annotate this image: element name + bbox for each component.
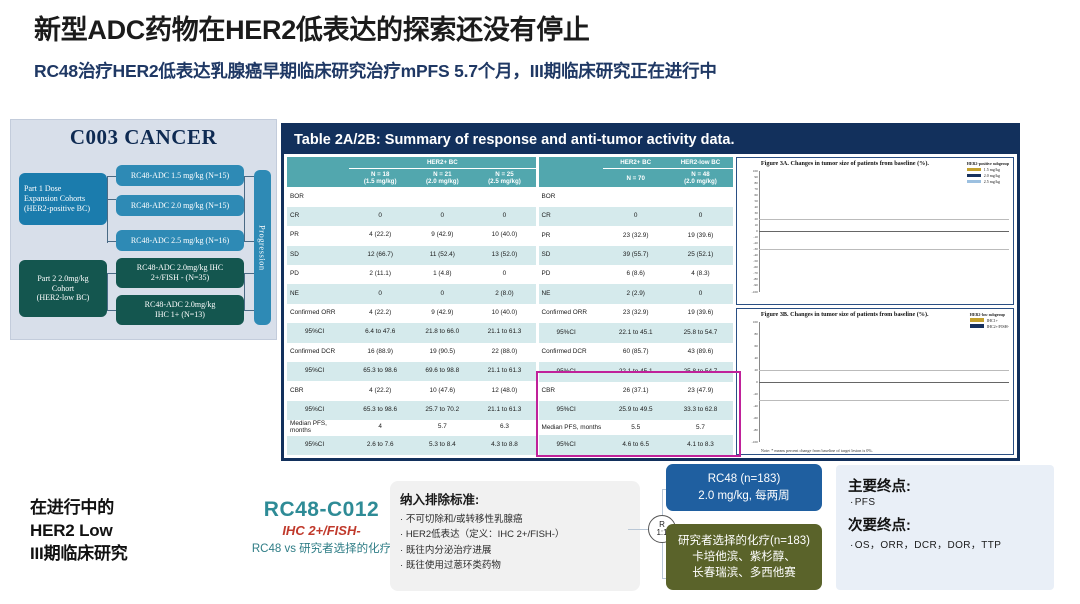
table-card-header: Table 2A/2B: Summary of response and ant… (284, 126, 1017, 154)
part1-line1: Part 1 Dose (24, 184, 61, 193)
table-2a-cell (473, 187, 535, 206)
table-2a-cell: 4.3 to 8.8 (473, 436, 535, 456)
table-2b-row-label: 95%CI (539, 323, 604, 342)
table-2a-cell: 2.6 to 7.6 (349, 436, 411, 456)
table-2a-cell: 0 (473, 207, 535, 226)
table-2b-row-label: CR (539, 207, 604, 226)
study-identifier: RC48-C012 IHC 2+/FISH- RC48 vs 研究者选择的化疗 (239, 498, 404, 556)
table-2b-cell (668, 187, 733, 206)
results-table-card: Table 2A/2B: Summary of response and ant… (281, 123, 1020, 461)
table-2b-row-label: 95%CI (539, 435, 604, 455)
table-row: 95%CI25.9 to 49.533.3 to 62.8 (539, 401, 733, 420)
table-2b-cell: 23 (47.9) (668, 382, 733, 401)
table-row: 95%CI2.6 to 7.65.3 to 8.44.3 to 8.8 (287, 436, 536, 456)
flow-box-part2: Part 2 2.0mg/kg Cohort (HER2-low BC) (19, 260, 107, 317)
table-2a-cell: 11 (52.4) (411, 246, 473, 265)
table-2b-cell (603, 187, 668, 206)
table-2b-cell: 25 (52.1) (668, 246, 733, 265)
table-row: Confirmed DCR60 (85.7)43 (89.6) (539, 343, 733, 362)
table-row: PD6 (8.6)4 (8.3) (539, 265, 733, 284)
table-row: Median PFS, months5.55.7 (539, 420, 733, 435)
table-2b-row-label: Confirmed DCR (539, 343, 604, 362)
arm5-line2: IHC 1+ (N=13) (155, 310, 205, 319)
table-2a-cell: 0 (473, 265, 535, 284)
table-2a-cell: 13 (52.0) (473, 246, 535, 265)
chart-ytick: 0 (756, 229, 758, 233)
table-2b-cell: 2 (2.9) (603, 284, 668, 303)
table-2b-row-label: PD (539, 265, 604, 284)
criteria-list: 不可切除和/或转移性乳腺癌HER2低表达（定义：IHC 2+/FISH-）既往内… (400, 512, 630, 574)
flow-box-arm-2p0: RC48-ADC 2.0 mg/kg (N=15) (116, 195, 244, 216)
table-2a-cell: 69.6 to 98.8 (411, 362, 473, 381)
progression-label: Progression (257, 225, 267, 271)
table-row: NE2 (2.9)0 (539, 284, 733, 303)
heading-line2: HER2 Low (30, 520, 128, 543)
chart-ytick: 20 (754, 368, 757, 372)
table-row: Confirmed ORR4 (22.2)9 (42.9)10 (40.0) (287, 304, 536, 323)
table-2a: HER2+ BCN = 18(1.5 mg/kg)N = 21(2.0 mg/k… (287, 157, 536, 455)
chart-3a-legend-title: HER2-positive subgroup (967, 161, 1009, 166)
table-row: BOR (287, 187, 536, 206)
table-2b-cell: 4.1 to 8.3 (668, 435, 733, 455)
table-2a-cell: 10 (40.0) (473, 304, 535, 323)
page-subtitle: RC48治疗HER2低表达乳腺癌早期临床研究治疗mPFS 5.7个月，III期临… (34, 58, 717, 83)
table-2a-row-label: SD (287, 246, 349, 265)
table-2b-cell: 6 (8.6) (603, 265, 668, 284)
table-2a-cell: 5.3 to 8.4 (411, 436, 473, 456)
table-2a-cell: 21.1 to 61.3 (473, 362, 535, 381)
chart-ytick: -20 (753, 392, 758, 396)
treatment-arm-chemotherapy: 研究者选择的化疗(n=183) 卡培他滨、紫杉醇、 长春瑞滨、多西他赛 (666, 524, 822, 590)
chart-3a-plot: 1009080706050403020100-10-20-30-40-50-60… (759, 171, 1009, 292)
chart-ytick: 40 (754, 205, 757, 209)
criteria-item: 既往使用过蒽环类药物 (400, 558, 630, 573)
table-row: CR00 (539, 207, 733, 226)
table-2a-row-label: NE (287, 284, 349, 303)
chart-ytick: -100 (752, 440, 758, 444)
table-2b-cell: 23 (32.9) (603, 226, 668, 245)
table-2b-group-1: HER2-low BC (668, 157, 733, 169)
chart-ytick: -70 (753, 271, 758, 275)
table-2a-cell: 6.3 (473, 420, 535, 435)
criteria-item: 不可切除和/或转移性乳腺癌 (400, 512, 630, 527)
chart-3b-note: Note: * means percent change from baseli… (761, 448, 873, 453)
table-2b-cell: 0 (603, 207, 668, 226)
chart-3b-bars (761, 322, 1009, 443)
page-title: 新型ADC药物在HER2低表达的探索还没有停止 (34, 8, 590, 47)
table-2a-col-1: N = 21(2.0 mg/kg) (411, 169, 473, 188)
table-2b-row-label: 95%CI (539, 362, 604, 381)
table-2a-row-label: Confirmed DCR (287, 343, 349, 362)
heading-line3: III期临床研究 (30, 543, 128, 566)
table-2a-cell: 0 (411, 207, 473, 226)
chart-ytick: 70 (754, 187, 757, 191)
criteria-item: HER2低表达（定义：IHC 2+/FISH-） (400, 527, 630, 542)
table-2b-cell: 26 (37.1) (603, 382, 668, 401)
table-2a-cell: 6.4 to 47.6 (349, 323, 411, 342)
table-2a-cell: 1 (4.8) (411, 265, 473, 284)
table-row: CBR26 (37.1)23 (47.9) (539, 382, 733, 401)
table-2a-cell: 21.8 to 66.0 (411, 323, 473, 342)
table-2b-row-label: BOR (539, 187, 604, 206)
arm-chemo-line1: 研究者选择的化疗(n=183) (678, 533, 810, 549)
table-row: NE002 (8.0) (287, 284, 536, 303)
chart-3b-plot: 100806040200-20-40-60-80-100 (759, 322, 1009, 443)
table-2a-cell: 5.7 (411, 420, 473, 435)
table-2a-row-label: CBR (287, 381, 349, 400)
table-2a-cell: 16 (88.9) (349, 343, 411, 362)
table-2b-cell: 4 (8.3) (668, 265, 733, 284)
table-2b-col-0: N = 70 (603, 169, 668, 188)
part1-line2: Expansion Cohorts (24, 194, 85, 203)
table-2b-row-label: Confirmed ORR (539, 304, 604, 323)
table-row: 95%CI4.6 to 6.54.1 to 8.3 (539, 435, 733, 455)
chart-ytick: -40 (753, 253, 758, 257)
table-2a-cell: 4 (349, 420, 411, 435)
rand-connector-left (628, 529, 649, 530)
secondary-endpoint-item: OS，ORR，DCR，DOR，TTP (850, 536, 1042, 551)
table-row: SD39 (55.7)25 (52.1) (539, 246, 733, 265)
chart-ytick: -50 (753, 259, 758, 263)
table-2a-cell: 12 (48.0) (473, 381, 535, 400)
table-2a-cell: 21.1 to 61.3 (473, 323, 535, 342)
table-2b-cell: 43 (89.6) (668, 343, 733, 362)
flow-box-arm-1p5: RC48-ADC 1.5 mg/kg (N=15) (116, 165, 244, 186)
table-2a-cell: 12 (66.7) (349, 246, 411, 265)
endpoints-card: 主要终点: PFS 次要终点: OS，ORR，DCR，DOR，TTP (836, 465, 1054, 590)
arm4-line2: 2+/FISH - (N=35) (151, 273, 209, 282)
table-2b-corner (539, 157, 604, 187)
arm-rc48-line2: 2.0 mg/kg, 每两周 (698, 488, 789, 504)
table-2a-row-label: CR (287, 207, 349, 226)
chart-ytick: 50 (754, 199, 757, 203)
table-row: PD2 (11.1)1 (4.8)0 (287, 265, 536, 284)
chart-ytick: 40 (754, 356, 757, 360)
study-flow-diagram: C003 CANCER Part 1 Dose Expansion Cohort… (10, 119, 277, 340)
inclusion-exclusion-card: 纳入排除标准: 不可切除和/或转移性乳腺癌HER2低表达（定义：IHC 2+/F… (390, 481, 640, 591)
table-2a-group-header: HER2+ BC (349, 157, 535, 169)
table-2a-cell (349, 187, 411, 206)
table-2b-cell: 33.3 to 62.8 (668, 401, 733, 420)
study-name-main: RC48-C012 (239, 498, 404, 522)
flow-box-arm-2p5: RC48-ADC 2.5 mg/kg (N=16) (116, 230, 244, 251)
table-2a-cell: 0 (349, 207, 411, 226)
table-2a-cell: 25.7 to 70.2 (411, 401, 473, 420)
table-row: PR4 (22.2)9 (42.9)10 (40.0) (287, 226, 536, 245)
part1-line3: (HER2-positive BC) (24, 204, 90, 213)
chart-figure-3a: Figure 3A. Changes in tumor size of pati… (736, 157, 1014, 305)
study-name-comparison: RC48 vs 研究者选择的化疗 (239, 540, 404, 556)
chart-ytick: -30 (753, 247, 758, 251)
heading-line1: 在进行中的 (30, 497, 128, 520)
table-2b-cell: 4.6 to 6.5 (603, 435, 668, 455)
table-2a-cell: 2 (11.1) (349, 265, 411, 284)
table-2b-cell: 60 (85.7) (603, 343, 668, 362)
table-2b-row-label: PR (539, 226, 604, 245)
table-2b-col-1: N = 48(2.0 mg/kg) (668, 169, 733, 188)
table-row: 95%CI65.3 to 98.625.7 to 70.221.1 to 61.… (287, 401, 536, 420)
chart-ytick: -40 (753, 404, 758, 408)
table-2b-cell: 0 (668, 207, 733, 226)
primary-endpoint-item: PFS (850, 497, 1042, 508)
part2-line3: (HER2-low BC) (37, 293, 90, 302)
table-row: 95%CI22.1 to 45.125.8 to 54.7 (539, 323, 733, 342)
primary-endpoint-title: 主要终点: (848, 475, 1042, 496)
chart-3b-legend-title: HER2-low subgroup (970, 312, 1009, 317)
table-2b-group-0: HER2+ BC (603, 157, 668, 169)
criteria-item: 既往内分泌治疗进展 (400, 543, 630, 558)
table-2b-cell: 25.9 to 49.5 (603, 401, 668, 420)
table-2b-row-label: SD (539, 246, 604, 265)
chart-ytick: -60 (753, 416, 758, 420)
chart-ytick: -10 (753, 235, 758, 239)
table-2a-cell: 19 (90.5) (411, 343, 473, 362)
study-name-biomarker: IHC 2+/FISH- (239, 523, 404, 538)
chart-ytick: 100 (753, 320, 758, 324)
table-2a-cell: 65.3 to 98.6 (349, 362, 411, 381)
flow-diagram-title: C003 CANCER (11, 125, 276, 150)
table-2a-cell: 10 (47.6) (411, 381, 473, 400)
chart-ytick: -100 (752, 290, 758, 294)
table-2a-row-label: BOR (287, 187, 349, 206)
table-2a-cell: 10 (40.0) (473, 226, 535, 245)
table-2a-cell: 9 (42.9) (411, 226, 473, 245)
table-2b-row-label: CBR (539, 382, 604, 401)
arm4-line1: RC48-ADC 2.0mg/kg IHC (137, 263, 223, 272)
table-2a-row-label: Median PFS, months (287, 420, 349, 435)
table-row: Median PFS, months45.76.3 (287, 420, 536, 435)
flow-box-part1: Part 1 Dose Expansion Cohorts (HER2-posi… (19, 173, 107, 225)
part2-line2: Cohort (52, 284, 74, 293)
table-2a-cell: 4 (22.2) (349, 304, 411, 323)
table-2a-corner (287, 157, 349, 187)
table-row: SD12 (66.7)11 (52.4)13 (52.0) (287, 246, 536, 265)
table-2b-cell: 5.7 (668, 420, 733, 435)
table-2b-cell: 0 (668, 284, 733, 303)
table-2a-cell: 4 (22.2) (349, 381, 411, 400)
chart-ytick: 80 (754, 181, 757, 185)
chart-ytick: 90 (754, 175, 757, 179)
chart-ytick: 20 (754, 217, 757, 221)
table-2a-cell (411, 187, 473, 206)
chart-ytick: -80 (753, 428, 758, 432)
chart-ytick: -20 (753, 241, 758, 245)
table-2b-cell: 22.1 to 45.1 (603, 362, 668, 381)
table-2a-cell: 0 (411, 284, 473, 303)
table-2b-cell: 19 (39.6) (668, 226, 733, 245)
table-2b: HER2+ BCHER2-low BCN = 70N = 48(2.0 mg/k… (539, 157, 733, 455)
table-2a-row-label: PD (287, 265, 349, 284)
table-2a-row-label: 95%CI (287, 401, 349, 420)
table-2a-row-label: 95%CI (287, 362, 349, 381)
table-2a-row-label: 95%CI (287, 323, 349, 342)
table-2a-col-2: N = 25(2.5 mg/kg) (473, 169, 535, 188)
table-2a-col-0: N = 18(1.5 mg/kg) (349, 169, 411, 188)
table-2a-cell: 2 (8.0) (473, 284, 535, 303)
table-row: CBR4 (22.2)10 (47.6)12 (48.0) (287, 381, 536, 400)
table-2b-cell: 25.8 to 54.7 (668, 323, 733, 342)
table-2b-cell: 22.1 to 45.1 (603, 323, 668, 342)
waterfall-charts-column: Figure 3A. Changes in tumor size of pati… (736, 157, 1014, 455)
table-2b-cell: 25.8 to 54.7 (668, 362, 733, 381)
arm-chemo-line3: 长春瑞滨、多西他赛 (692, 565, 796, 581)
flow-box-part1-label: Part 1 Dose Expansion Cohorts (HER2-posi… (24, 184, 90, 213)
chart-ytick: 60 (754, 193, 757, 197)
chart-ytick: -60 (753, 265, 758, 269)
part2-line1: Part 2 2.0mg/kg (37, 274, 88, 283)
chart-3a-bars (761, 171, 1009, 292)
chart-ytick: 30 (754, 211, 757, 215)
table-row: PR23 (32.9)19 (39.6) (539, 226, 733, 245)
table-2a-row-label: PR (287, 226, 349, 245)
chart-ytick: -90 (753, 283, 758, 287)
criteria-title: 纳入排除标准: (400, 489, 630, 508)
chart-figure-3b: Figure 3B. Changes in tumor size of pati… (736, 308, 1014, 456)
arm-chemo-line2: 卡培他滨、紫杉醇、 (692, 549, 796, 565)
table-2a-row-label: 95%CI (287, 436, 349, 456)
table-row: CR000 (287, 207, 536, 226)
table-2a-cell: 9 (42.9) (411, 304, 473, 323)
table-2a-cell: 0 (349, 284, 411, 303)
chart-ytick: 100 (753, 169, 758, 173)
treatment-arm-rc48: RC48 (n=183) 2.0 mg/kg, 每两周 (666, 464, 822, 511)
arm5-line1: RC48-ADC 2.0mg/kg (145, 300, 216, 309)
secondary-endpoint-title: 次要终点: (848, 514, 1042, 535)
table-2b-cell: 39 (55.7) (603, 246, 668, 265)
flow-box-arm-ihc1-pos: RC48-ADC 2.0mg/kg IHC 1+ (N=13) (116, 295, 244, 325)
table-row: 95%CI22.1 to 45.125.8 to 54.7 (539, 362, 733, 381)
flow-box-progression: Progression (254, 170, 271, 325)
flow-box-arm-ihc2-fish-neg: RC48-ADC 2.0mg/kg IHC 2+/FISH - (N=35) (116, 258, 244, 288)
table-2a-cell: 22 (88.0) (473, 343, 535, 362)
table-2b-row-label: NE (539, 284, 604, 303)
table-2b-cell: 23 (32.9) (603, 304, 668, 323)
arm-rc48-line1: RC48 (n=183) (708, 471, 781, 487)
table-2b-cell: 5.5 (603, 420, 668, 435)
table-2b-row-label: Median PFS, months (539, 420, 604, 435)
table-2a-row-label: Confirmed ORR (287, 304, 349, 323)
table-2b-cell: 19 (39.6) (668, 304, 733, 323)
chart-ytick: 80 (754, 332, 757, 336)
table-2a-cell: 21.1 to 61.3 (473, 401, 535, 420)
table-2a-cell: 65.3 to 98.6 (349, 401, 411, 420)
chart-ytick: 60 (754, 344, 757, 348)
table-2b-row-label: 95%CI (539, 401, 604, 420)
table-row: 95%CI65.3 to 98.669.6 to 98.821.1 to 61.… (287, 362, 536, 381)
table-row: Confirmed DCR16 (88.9)19 (90.5)22 (88.0) (287, 343, 536, 362)
table-row: 95%CI6.4 to 47.621.8 to 66.021.1 to 61.3 (287, 323, 536, 342)
ongoing-trial-heading: 在进行中的 HER2 Low III期临床研究 (30, 497, 128, 565)
chart-ytick: -80 (753, 277, 758, 281)
table-2a-cell: 4 (22.2) (349, 226, 411, 245)
chart-ytick: 10 (754, 223, 757, 227)
table-row: BOR (539, 187, 733, 206)
table-row: Confirmed ORR23 (32.9)19 (39.6) (539, 304, 733, 323)
chart-ytick: 0 (756, 380, 758, 384)
